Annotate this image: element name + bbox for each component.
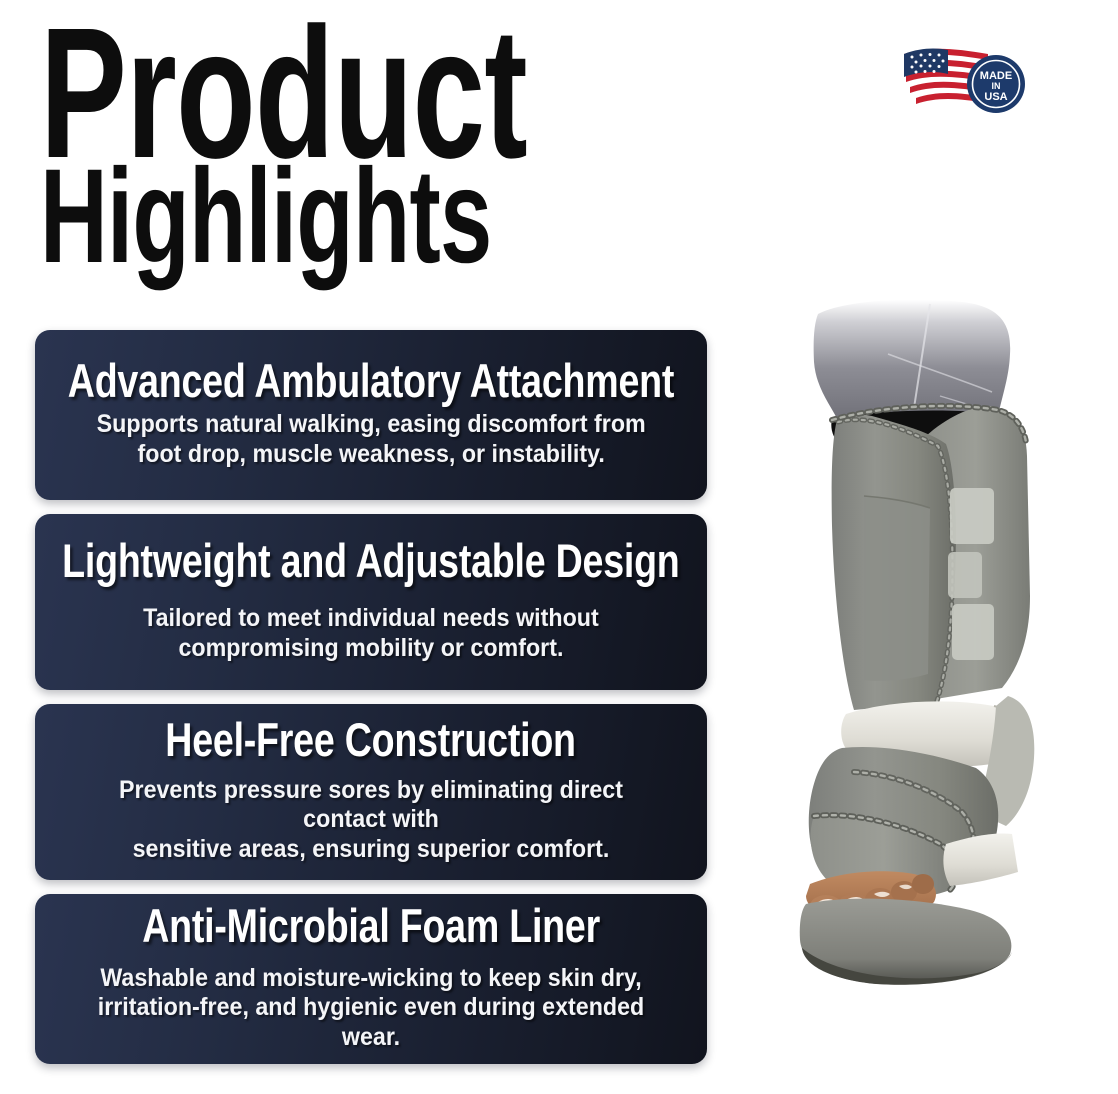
highlight-card-description: Supports natural walking, easing discomf… [96,410,645,469]
highlight-card-title: Lightweight and Adjustable Design [62,537,679,585]
highlight-card-list: Advanced Ambulatory Attachment Supports … [35,330,707,1078]
sole-footplate [800,899,1012,985]
highlight-card-title: Anti-Microbial Foam Liner [142,902,600,950]
highlight-card-description: Washable and moisture-wicking to keep sk… [75,964,666,1053]
page-title-block: Product Highlights [40,8,700,278]
badge-line-2: IN [992,81,1001,91]
highlight-card-title: Advanced Ambulatory Attachment [68,357,674,405]
highlight-card: Advanced Ambulatory Attachment Supports … [35,330,707,500]
highlight-card: Anti-Microbial Foam Liner Washable and m… [35,894,707,1064]
made-in-usa-seal: MADE IN USA [967,55,1025,113]
calf-brace-panel [832,406,1030,710]
highlight-card-title: Heel-Free Construction [166,716,576,764]
velcro-tab [952,604,994,660]
badge-line-3: USA [984,91,1007,103]
highlight-card-description: Tailored to meet individual needs withou… [143,604,599,663]
highlight-card: Lightweight and Adjustable Design Tailor… [35,514,707,690]
product-highlights-infographic: Product Highlights [0,0,1118,1094]
foot-ankle-orthopedic-splint-photo [780,296,1118,1072]
page-title-secondary: Highlights [40,155,502,278]
highlight-card: Heel-Free Construction Prevents pressure… [35,704,707,880]
highlight-card-description: Prevents pressure sores by eliminating d… [75,776,666,865]
velcro-tab [950,488,994,544]
velcro-tab [948,552,982,598]
made-in-usa-badge: MADE IN USA [896,42,1032,118]
